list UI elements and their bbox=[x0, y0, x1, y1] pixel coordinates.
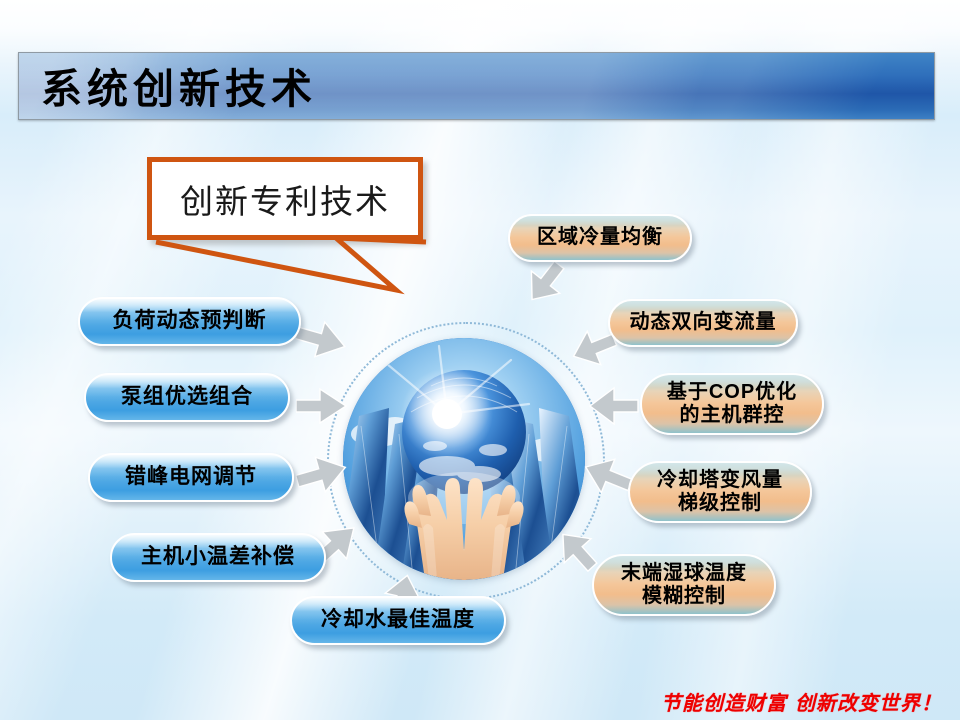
pill-right-1-label: 区域冷量均衡 bbox=[537, 226, 663, 249]
pill-left-2-label: 泵组优选组合 bbox=[121, 385, 253, 409]
pill-right-3-label-line2: 的主机群控 bbox=[667, 404, 797, 427]
pill-left-5[interactable]: 冷却水最佳温度 bbox=[290, 596, 506, 645]
arrow-left-1-icon bbox=[296, 318, 348, 360]
pill-left-1[interactable]: 负荷动态预判断 bbox=[78, 297, 301, 346]
pill-right-4-label-line1: 冷却塔变风量 bbox=[657, 469, 783, 492]
pill-left-5-label: 冷却水最佳温度 bbox=[321, 608, 475, 632]
pill-right-3-wrap: 基于COP优化 的主机群控 bbox=[667, 381, 797, 427]
pill-right-2[interactable]: 动态双向变流量 bbox=[608, 299, 798, 347]
callout-label: 创新专利技术 bbox=[180, 175, 390, 223]
pill-right-1[interactable]: 区域冷量均衡 bbox=[508, 214, 692, 262]
pill-right-4-wrap: 冷却塔变风量 梯级控制 bbox=[657, 469, 783, 515]
pill-left-3-label: 错峰电网调节 bbox=[125, 465, 257, 489]
pill-right-5-wrap: 末端湿球温度 模糊控制 bbox=[621, 562, 747, 608]
pill-left-4-label: 主机小温差补偿 bbox=[141, 545, 295, 569]
callout-box: 创新专利技术 bbox=[147, 157, 423, 240]
title-banner: 系统创新技术 bbox=[18, 52, 935, 120]
pill-right-5[interactable]: 末端湿球温度 模糊控制 bbox=[592, 554, 776, 616]
pill-right-2-label: 动态双向变流量 bbox=[630, 311, 777, 334]
pill-right-3-label-line1: 基于COP优化 bbox=[667, 381, 797, 404]
slide-canvas: 系统创新技术 创新专利技术 bbox=[0, 0, 960, 720]
pill-left-4[interactable]: 主机小温差补偿 bbox=[110, 533, 326, 582]
pill-right-4[interactable]: 冷却塔变风量 梯级控制 bbox=[628, 461, 812, 523]
pill-left-2[interactable]: 泵组优选组合 bbox=[84, 373, 290, 422]
arrow-right-1-icon bbox=[520, 258, 570, 308]
pill-right-5-label-line2: 模糊控制 bbox=[621, 585, 747, 608]
pill-right-4-label-line2: 梯级控制 bbox=[657, 492, 783, 515]
center-image bbox=[343, 338, 585, 580]
footer-slogan: 节能创造财富 创新改变世界！ bbox=[661, 687, 942, 716]
pill-left-1-label: 负荷动态预判断 bbox=[113, 309, 267, 333]
pill-right-5-label-line1: 末端湿球温度 bbox=[621, 562, 747, 585]
page-title: 系统创新技术 bbox=[41, 55, 317, 115]
pill-left-3[interactable]: 错峰电网调节 bbox=[88, 453, 294, 502]
pill-right-3[interactable]: 基于COP优化 的主机群控 bbox=[640, 373, 824, 435]
